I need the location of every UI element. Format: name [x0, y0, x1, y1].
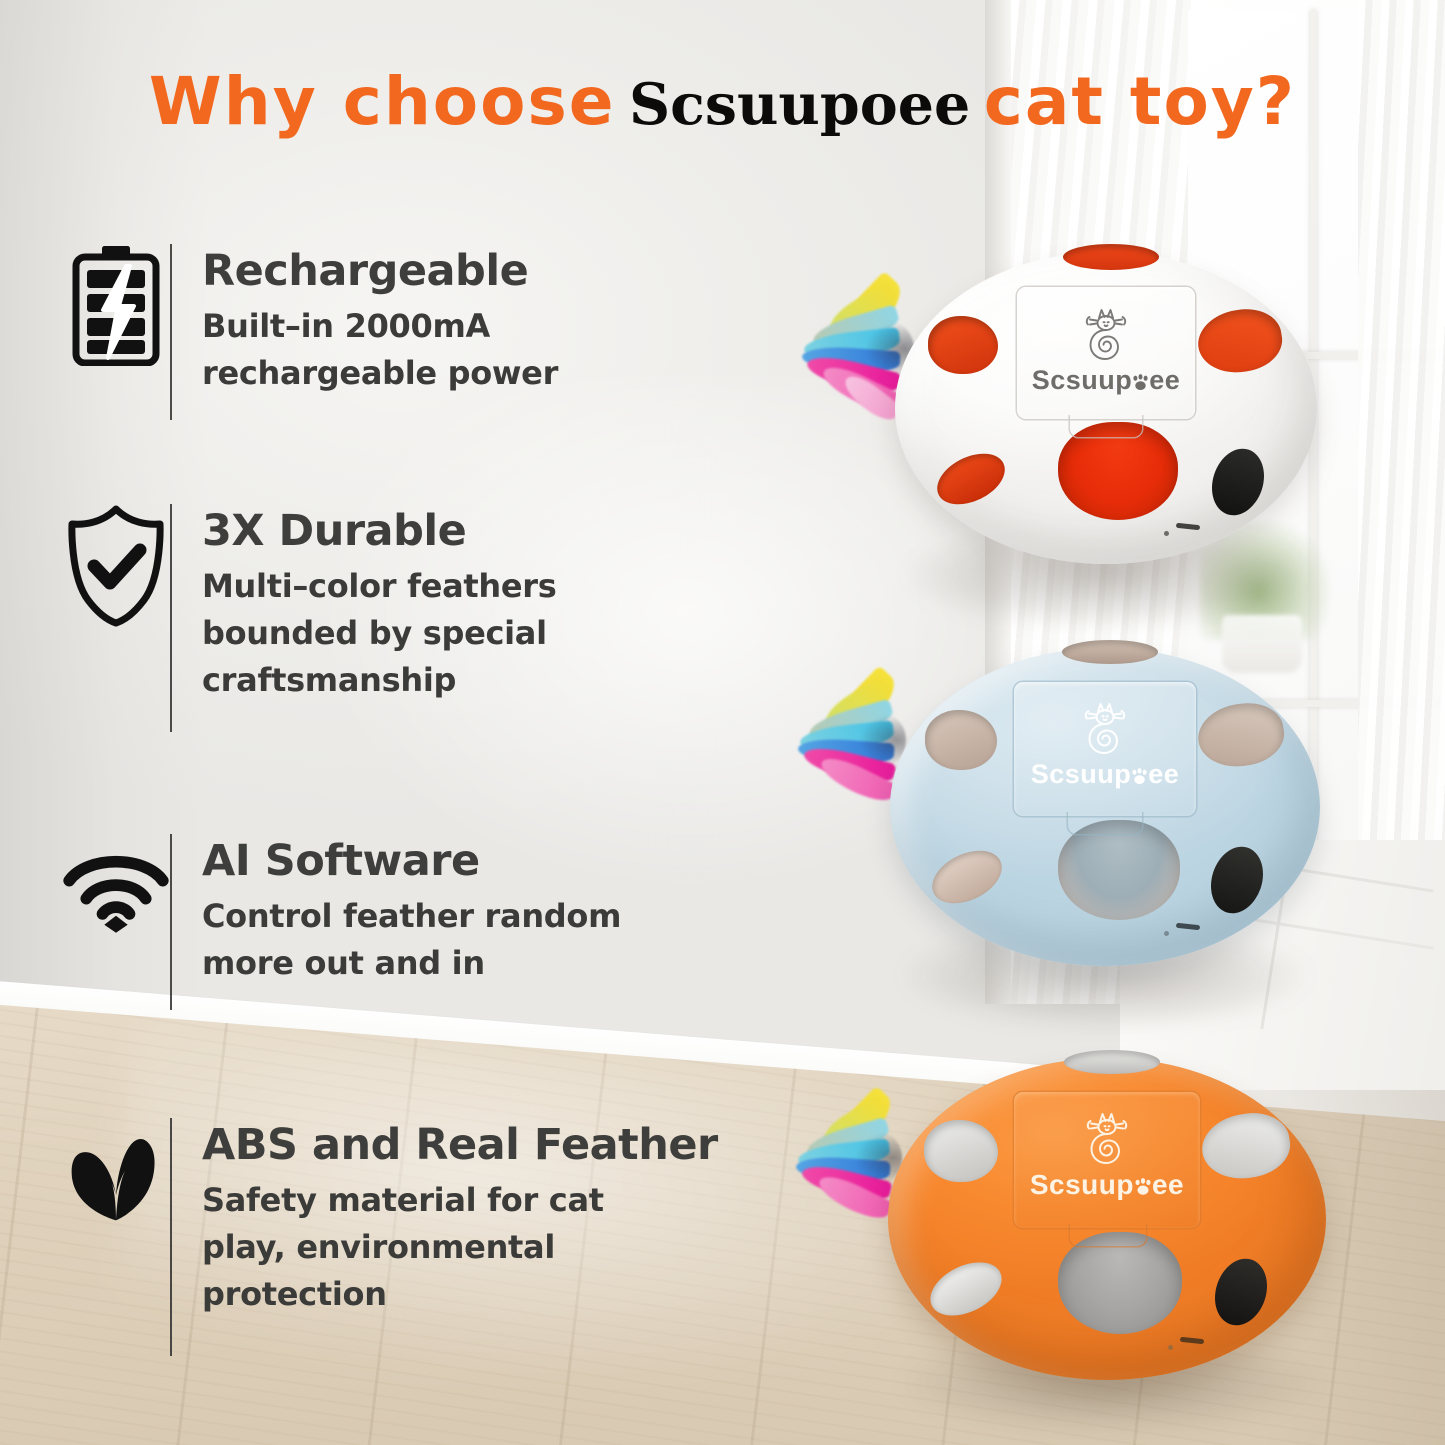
- feature-divider-rule: [170, 244, 172, 420]
- indicator-led: [1168, 1345, 1173, 1350]
- indicator-led: [1164, 931, 1169, 936]
- toy-hole-right: [1194, 698, 1289, 773]
- feature-description-line: protection: [202, 1271, 718, 1318]
- feature-description-line: Control feather random: [202, 893, 621, 940]
- toy-sensor-hole: [1204, 442, 1273, 522]
- feature-divider-rule: [170, 504, 172, 732]
- toy-hole-left: [924, 1120, 998, 1182]
- product-branding: Scsuup ee: [1014, 698, 1196, 790]
- indicator-led: [1164, 531, 1169, 536]
- toy-hole-top: [1062, 640, 1158, 664]
- feature-title: AI Software: [202, 836, 621, 886]
- feature-description-line: more out and in: [202, 940, 621, 987]
- product-branding: Scsuup ee: [1014, 1108, 1200, 1201]
- title-brand-name: Scsuupoee: [620, 71, 979, 138]
- toy-lid-tab: [1070, 415, 1142, 437]
- feature-description-line: play, environmental: [202, 1224, 718, 1271]
- wifi-icon: [62, 834, 170, 938]
- feature-text-block: AI Software Control feather random more …: [202, 834, 621, 987]
- feature-item-abs-real-feather: ABS and Real Feather Safety material for…: [62, 1118, 718, 1356]
- infographic-canvas: Why choose Scsuupoee cat toy? Rechargeab…: [0, 0, 1445, 1445]
- feature-description-line: Safety material for cat: [202, 1177, 718, 1224]
- brand-text-b: ee: [1152, 1169, 1184, 1200]
- brand-wordmark: Scsuup ee: [1014, 1169, 1200, 1201]
- paw-print-icon: [1134, 1175, 1152, 1196]
- brand-text-a: Scsuup: [1031, 759, 1132, 789]
- feature-description: Multi–color feathers bounded by special …: [202, 563, 557, 704]
- toy-hole-left: [928, 316, 998, 374]
- charging-port: [1176, 923, 1200, 930]
- feature-text-block: ABS and Real Feather Safety material for…: [202, 1118, 718, 1318]
- feature-divider-rule: [170, 834, 172, 1010]
- paw-print-icon: [1131, 765, 1148, 785]
- feature-item-rechargeable: Rechargeable Built–in 2000mA rechargeabl…: [62, 244, 558, 420]
- toy-shell: Scsuup ee: [895, 252, 1317, 564]
- feature-description-line: bounded by special: [202, 610, 557, 657]
- feature-item-ai-software: AI Software Control feather random more …: [62, 834, 621, 1010]
- title-part-1: Why choose: [149, 63, 616, 140]
- paw-print-icon: [1132, 371, 1149, 391]
- feature-title: 3X Durable: [202, 506, 557, 556]
- shield-check-icon: [62, 504, 170, 628]
- toy-shell: Scsuup ee: [890, 648, 1320, 966]
- toy-sensor-hole: [1203, 840, 1272, 920]
- feature-description-line: craftsmanship: [202, 657, 557, 704]
- toy-hole-lower-left: [922, 1252, 1010, 1327]
- plant-pot: [1222, 615, 1302, 673]
- feature-text-block: 3X Durable Multi–color feathers bounded …: [202, 504, 557, 704]
- product-branding: Scsuup ee: [1017, 304, 1195, 396]
- feature-description: Safety material for cat play, environmen…: [202, 1177, 718, 1318]
- feature-description-line: Multi–color feathers: [202, 563, 557, 610]
- brand-text-a: Scsuup: [1032, 365, 1133, 395]
- page-title: Why choose Scsuupoee cat toy?: [0, 56, 1445, 148]
- leaf-sprout-icon: [62, 1118, 170, 1230]
- feature-text-block: Rechargeable Built–in 2000mA rechargeabl…: [202, 244, 558, 397]
- feature-divider-rule: [170, 1118, 172, 1356]
- feature-description: Control feather random more out and in: [202, 893, 621, 987]
- title-part-2: cat toy?: [984, 63, 1296, 140]
- toy-hole-top: [1064, 1050, 1160, 1074]
- brand-text-b: ee: [1148, 759, 1179, 789]
- charging-port: [1180, 1337, 1204, 1344]
- toy-hole-left: [925, 710, 997, 770]
- charging-port: [1176, 523, 1200, 530]
- brand-wordmark: Scsuup ee: [1017, 365, 1195, 396]
- brand-wordmark: Scsuup ee: [1014, 759, 1196, 790]
- toy-hole-lower-left: [924, 840, 1011, 914]
- toy-hole-right: [1194, 304, 1287, 378]
- toy-hole-top: [1063, 244, 1159, 270]
- feature-item-durable: 3X Durable Multi–color feathers bounded …: [62, 504, 557, 732]
- feature-title: ABS and Real Feather: [202, 1120, 718, 1170]
- toy-sensor-hole: [1207, 1252, 1276, 1332]
- cat-logo-icon: [1014, 1108, 1200, 1168]
- toy-hole-front: [1058, 820, 1180, 920]
- brand-text-b: ee: [1149, 365, 1180, 395]
- toy-lid-tab: [1068, 812, 1142, 834]
- toy-shell: Scsuup ee: [888, 1058, 1326, 1380]
- toy-hole-lower-left: [929, 443, 1013, 514]
- feature-description: Built–in 2000mA rechargeable power: [202, 303, 558, 397]
- toy-lid-tab: [1070, 1224, 1146, 1246]
- battery-charging-icon: [62, 244, 170, 366]
- brand-text-a: Scsuup: [1030, 1169, 1134, 1200]
- cat-logo-icon: [1014, 698, 1196, 758]
- feature-title: Rechargeable: [202, 246, 558, 296]
- feature-description-line: rechargeable power: [202, 350, 558, 397]
- feature-description-line: Built–in 2000mA: [202, 303, 558, 350]
- cat-logo-icon: [1017, 304, 1195, 364]
- toy-hole-front: [1058, 1232, 1182, 1334]
